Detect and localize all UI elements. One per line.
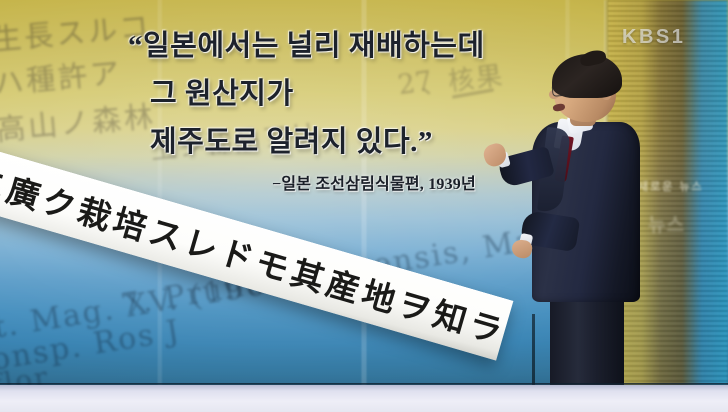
- presenter: [496, 56, 686, 412]
- quote-line-1: “일본에서는 널리 재배하는데: [128, 22, 558, 70]
- quote-line-2: 그 원산지가: [128, 70, 558, 118]
- studio-floor: [0, 385, 728, 412]
- channel-logo: KBS1: [622, 26, 685, 49]
- broadcast-screenshot: 生長スルコ ハ種許ア 高山ノ森林 上ジ稀品アリ。 、核果 27 7. Prunu…: [0, 0, 728, 412]
- quote-attribution: −일본 조선삼림식물편, 1939년: [272, 170, 476, 194]
